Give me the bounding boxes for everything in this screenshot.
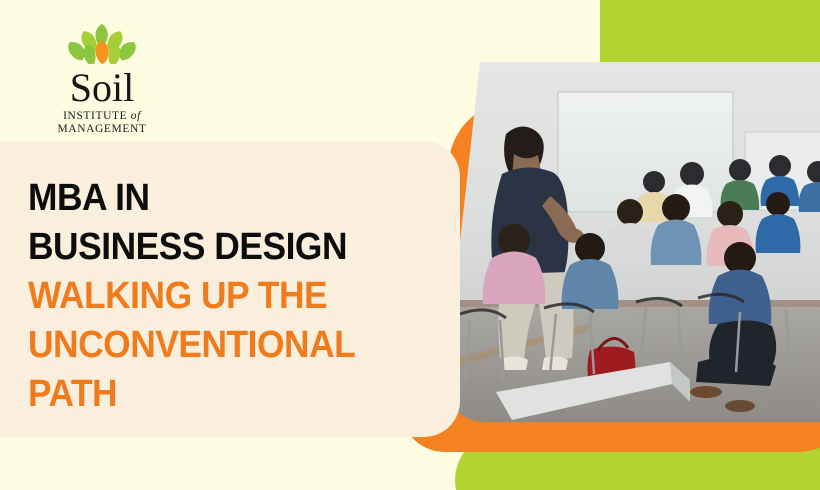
- headline-line-4: UNCONVENTIONAL: [28, 321, 400, 370]
- promo-banner: Soil INSTITUTE of MANAGEMENT MBA IN BUSI…: [0, 0, 820, 490]
- headline-line-2: BUSINESS DESIGN: [28, 223, 400, 272]
- logo-tagline-management: MANAGEMENT: [57, 123, 146, 135]
- headline-line-1: MBA IN: [28, 174, 400, 223]
- tree-leaves-logo-icon: [22, 22, 182, 64]
- headline-block: MBA IN BUSINESS DESIGN WALKING UP THE UN…: [28, 174, 428, 419]
- classroom-presentation-photo: [440, 62, 820, 422]
- logo-tagline-of: of: [131, 110, 141, 122]
- headline-line-3: WALKING UP THE: [28, 272, 400, 321]
- classroom-scene-illustration: [440, 62, 820, 422]
- logo-wordmark: Soil: [22, 67, 182, 109]
- logo-tagline: INSTITUTE of MANAGEMENT: [22, 110, 182, 136]
- logo-tagline-institute: INSTITUTE: [63, 110, 127, 122]
- headline-line-5: PATH: [28, 370, 400, 419]
- soil-institute-logo: Soil INSTITUTE of MANAGEMENT: [22, 22, 182, 122]
